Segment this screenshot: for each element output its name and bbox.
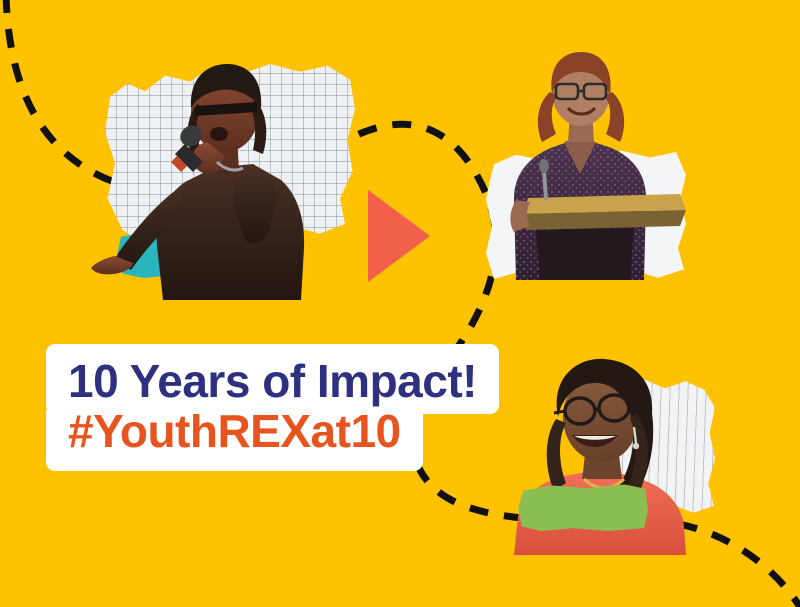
poster-canvas: 10 Years of Impact! #YouthREXat10 <box>0 0 800 607</box>
singer-figure-icon <box>85 50 375 300</box>
headline-card: 10 Years of Impact! #YouthREXat10 <box>46 344 800 471</box>
green-blob <box>518 483 648 531</box>
play-triangle-icon <box>368 190 430 282</box>
photo-speaker <box>480 50 700 280</box>
photo-singer <box>85 50 375 300</box>
headline-row-hashtag: #YouthREXat10 <box>46 404 423 472</box>
headline-line-primary: 10 Years of Impact! <box>68 356 477 408</box>
speaker-figure-icon <box>480 50 700 280</box>
headline-row-primary: 10 Years of Impact! <box>46 344 499 414</box>
